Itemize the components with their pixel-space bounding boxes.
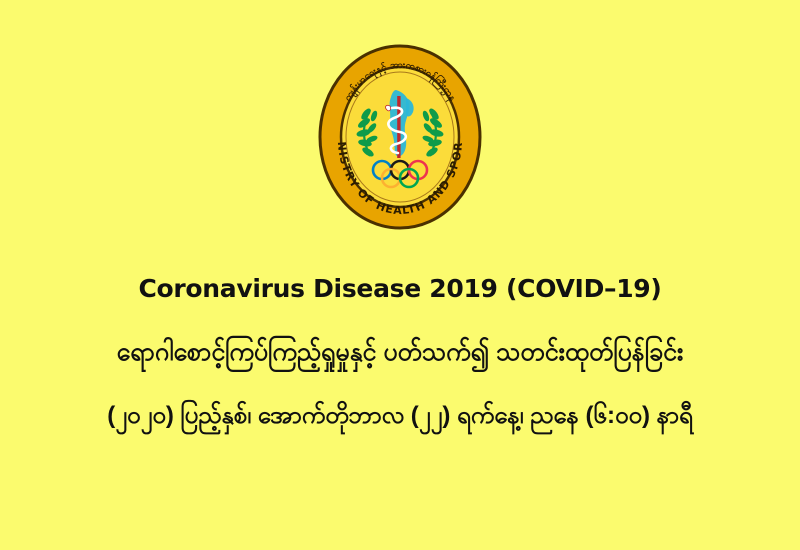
ministry-seal-icon: ကျန်းမာရေးနှင့် အားကစားဝန်ကြီးဌာန MINIST… bbox=[318, 44, 482, 230]
announcement-poster: ကျန်းမာရေးနှင့် အားကစားဝန်ကြီးဌာန MINIST… bbox=[0, 0, 800, 550]
announcement-text-block: Coronavirus Disease 2019 (COVID–19) ရောဂ… bbox=[0, 272, 800, 436]
announcement-subject-burmese: ရောဂါစောင့်ကြပ်ကြည့်ရှုမှုနှင့် ပတ်သက်၍ … bbox=[0, 332, 800, 372]
announcement-datetime-burmese: (၂၀၂၀) ပြည့်နှစ်၊ အောက်တိုဘာလ (၂၂) ရက်နေ… bbox=[0, 396, 800, 436]
page-title-english: Coronavirus Disease 2019 (COVID–19) bbox=[0, 272, 800, 306]
emblem-container: ကျန်းမာရေးနှင့် အားကစားဝန်ကြီးဌာန MINIST… bbox=[0, 44, 800, 230]
